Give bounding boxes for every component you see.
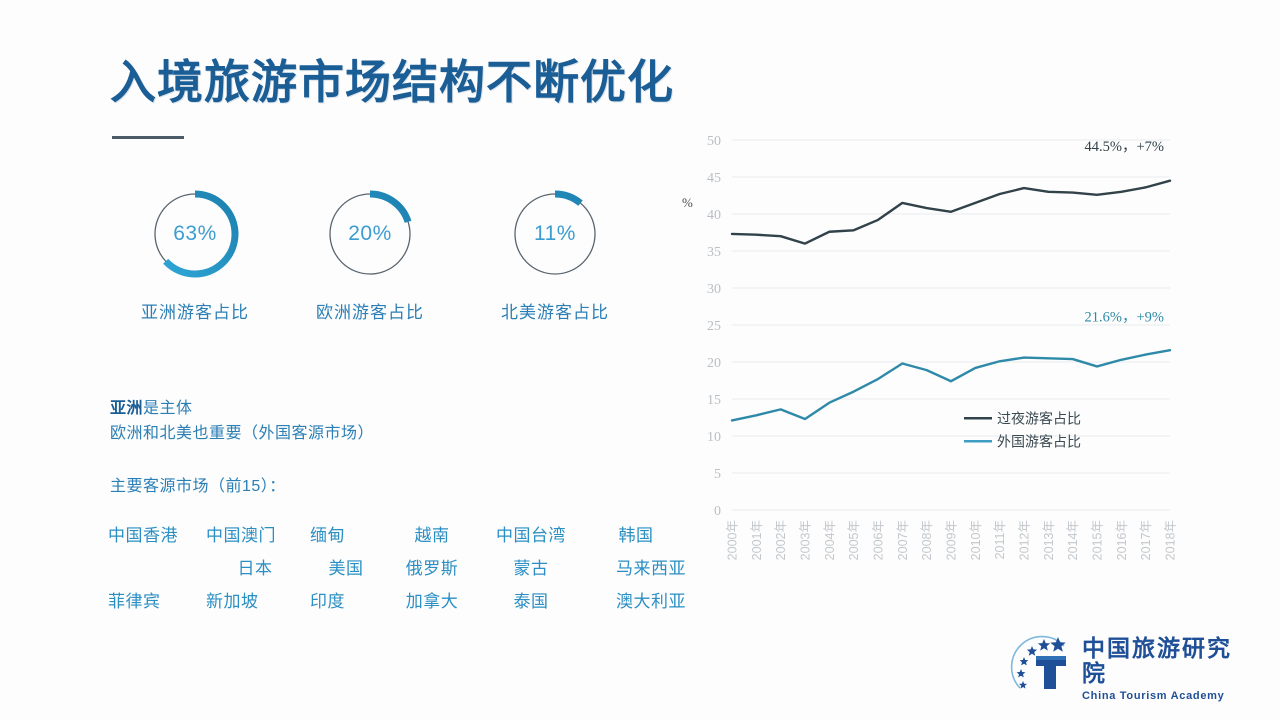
- chart-x-tick-label: 2016年: [1115, 520, 1129, 560]
- chart-x-tick-label: 2002年: [774, 520, 788, 560]
- chart-y-tick-label: 0: [714, 504, 721, 519]
- chart-series-line: [732, 350, 1170, 420]
- chart-x-tick-labels: 2000年2001年2002年2003年2004年2005年2006年2007年…: [726, 520, 1178, 560]
- logo-mark-icon: [1010, 632, 1076, 696]
- chart-x-tick-label: 2015年: [1091, 520, 1105, 560]
- chart-x-tick-label: 2005年: [847, 520, 861, 560]
- chart-y-tick-label: 30: [707, 282, 721, 297]
- market-cell-empty: [108, 554, 200, 579]
- page-title: 入境旅游市场结构不断优化: [110, 58, 674, 106]
- market-cell: 美国: [310, 554, 382, 579]
- market-cell: 澳大利亚: [586, 587, 686, 612]
- chart-y-tick-label: 40: [707, 208, 721, 223]
- chart-y-tick-label: 45: [707, 171, 721, 186]
- lead-text-strong: 亚洲: [110, 400, 143, 417]
- chart-y-tick-label: 10: [707, 430, 721, 445]
- chart-y-tick-label: 50: [707, 134, 721, 149]
- donut-card-north-america: 11% 北美游客占比: [470, 186, 640, 323]
- market-cell: 中国台湾: [482, 521, 580, 546]
- chart-x-tick-label: 2003年: [799, 520, 813, 560]
- market-cell: 加拿大: [388, 587, 476, 612]
- donut-north-america: 11%: [507, 186, 603, 282]
- chart-y-tick-label: 15: [707, 393, 721, 408]
- chart-y-tick-label: 20: [707, 356, 721, 371]
- lead-text-block: 亚洲是主体 欧洲和北美也重要（外国客源市场）: [110, 396, 374, 446]
- chart-x-tick-label: 2009年: [945, 520, 959, 560]
- market-cell: 蒙古: [482, 554, 580, 579]
- market-cell: 中国香港: [108, 521, 200, 546]
- chart-annotation: 44.5%，+7%: [1085, 139, 1164, 155]
- chart-x-tick-label: 2001年: [750, 520, 764, 560]
- legend-label: 过夜游客占比: [997, 411, 1081, 427]
- donut-asia-label: 亚洲游客占比: [110, 298, 280, 323]
- chart-y-tick-label: 35: [707, 245, 721, 260]
- donut-europe: 20%: [322, 186, 418, 282]
- chart-x-tick-label: 2010年: [969, 520, 983, 560]
- chart-x-tick-label: 2018年: [1164, 520, 1178, 560]
- logo-t-glyph: [1036, 656, 1066, 689]
- donut-asia: 63%: [147, 186, 243, 282]
- chart-y-axis-title: %: [682, 195, 693, 210]
- market-cell: 印度: [310, 587, 382, 612]
- line-chart-svg: 05101520253035404550 % 2000年2001年2002年20…: [660, 118, 1200, 588]
- donut-card-asia: 63% 亚洲游客占比: [110, 186, 280, 323]
- market-cell: 泰国: [482, 587, 580, 612]
- donut-chart-group: 63% 亚洲游客占比 20% 欧洲游客占比: [110, 186, 640, 336]
- donut-card-europe: 20% 欧洲游客占比: [285, 186, 455, 323]
- chart-y-tick-label: 25: [707, 319, 721, 334]
- logo-english-name: China Tourism Academy: [1082, 690, 1255, 702]
- market-cell: 俄罗斯: [388, 554, 476, 579]
- donut-north-america-value: 11%: [507, 186, 603, 282]
- lead-text-line-1: 亚洲是主体: [110, 396, 374, 421]
- line-chart: 05101520253035404550 % 2000年2001年2002年20…: [660, 118, 1200, 588]
- source-markets-grid: 中国香港 中国澳门 缅甸 越南 中国台湾 韩国 日本 美国 俄罗斯 蒙古 马来西…: [108, 521, 668, 612]
- chart-x-tick-label: 2007年: [896, 520, 910, 560]
- chart-annotations: 44.5%，+7%21.6%，+9%: [1085, 139, 1164, 325]
- chart-legend: 过夜游客占比外国游客占比: [964, 411, 1081, 450]
- chart-series-line: [732, 181, 1170, 244]
- donut-europe-value: 20%: [322, 186, 418, 282]
- chart-x-tick-label: 2004年: [823, 520, 837, 560]
- chart-x-tick-label: 2011年: [993, 520, 1007, 559]
- logo-t-glyph-highlight: [1036, 656, 1066, 660]
- chart-x-tick-label: 2017年: [1139, 520, 1153, 560]
- market-cell: 新加坡: [206, 587, 304, 612]
- title-underline-rule: [112, 136, 184, 139]
- donut-europe-label: 欧洲游客占比: [285, 298, 455, 323]
- donut-north-america-label: 北美游客占比: [470, 298, 640, 323]
- chart-x-tick-label: 2013年: [1042, 520, 1056, 560]
- market-cell: 缅甸: [310, 521, 382, 546]
- legend-label: 外国游客占比: [997, 434, 1081, 450]
- organization-logo: 中国旅游研究院 China Tourism Academy: [1010, 630, 1255, 700]
- market-cell: 越南: [388, 521, 476, 546]
- donut-asia-value: 63%: [147, 186, 243, 282]
- chart-y-tick-labels: 05101520253035404550: [707, 134, 721, 519]
- chart-x-tick-label: 2008年: [920, 520, 934, 560]
- lead-text-rest: 是主体: [143, 400, 193, 417]
- chart-series-lines: [732, 181, 1170, 421]
- source-markets-heading: 主要客源市场（前15）：: [110, 472, 286, 496]
- market-cell: 菲律宾: [108, 587, 200, 612]
- logo-chinese-name: 中国旅游研究院: [1082, 636, 1255, 687]
- market-cell: 日本: [206, 554, 304, 579]
- market-cell: 中国澳门: [206, 521, 304, 546]
- chart-x-tick-label: 2000年: [726, 520, 740, 560]
- slide-canvas: 入境旅游市场结构不断优化 63% 亚洲游客占比: [0, 0, 1280, 720]
- title-block: 入境旅游市场结构不断优化: [110, 58, 674, 106]
- chart-x-tick-label: 2014年: [1066, 520, 1080, 560]
- chart-x-tick-label: 2006年: [872, 520, 886, 560]
- chart-x-tick-label: 2012年: [1018, 520, 1032, 560]
- logo-text-block: 中国旅游研究院 China Tourism Academy: [1082, 636, 1255, 702]
- lead-text-line-2: 欧洲和北美也重要（外国客源市场）: [110, 421, 374, 446]
- chart-annotation: 21.6%，+9%: [1085, 309, 1164, 325]
- chart-y-tick-label: 5: [714, 467, 721, 482]
